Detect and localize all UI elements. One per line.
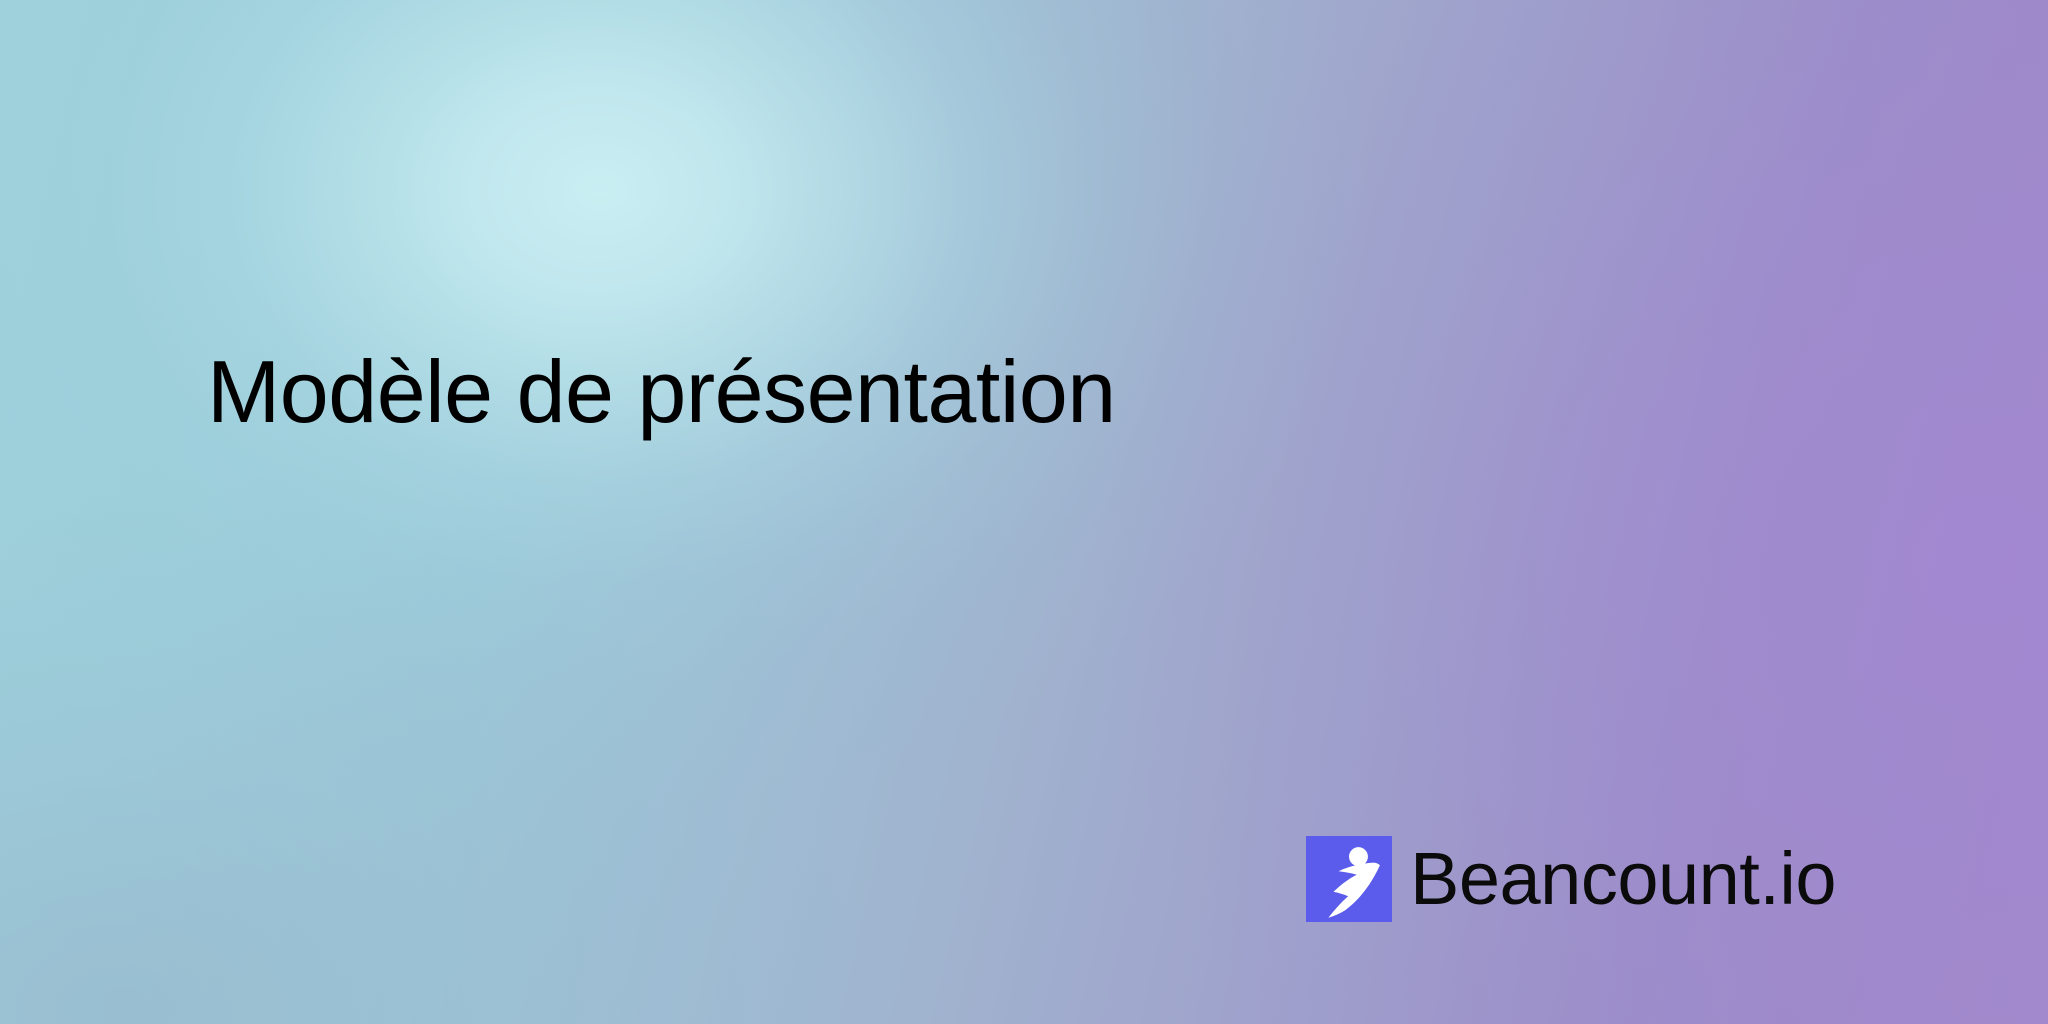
slide-title: Modèle de présentation [207, 344, 1116, 439]
brand-name: Beancount.io [1410, 842, 1836, 916]
presentation-slide: Modèle de présentation Beancount.io [0, 0, 2048, 1024]
brand-lockup: Beancount.io [1306, 836, 1836, 922]
beancount-figure-icon [1306, 836, 1392, 922]
